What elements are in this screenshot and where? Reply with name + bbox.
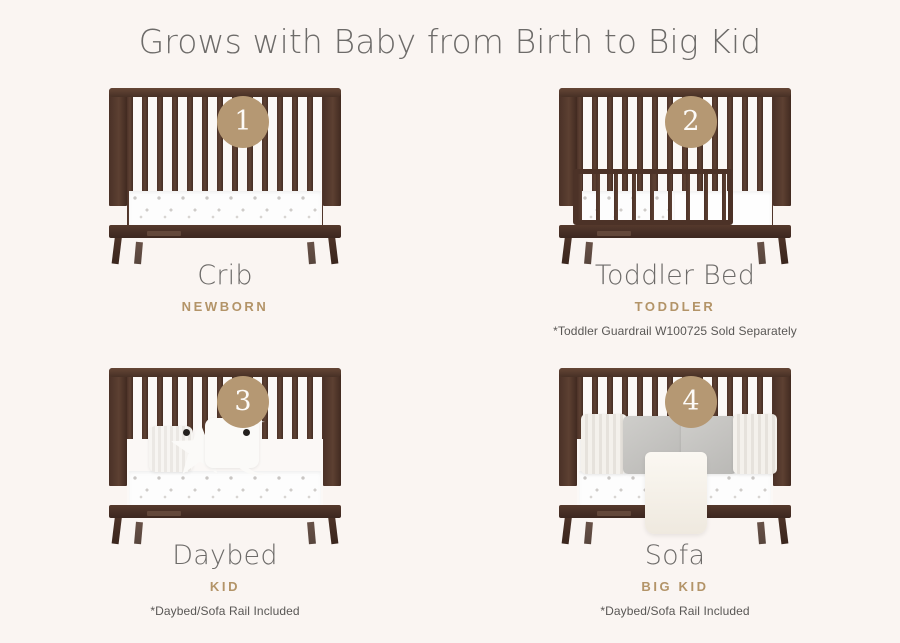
- daybed-mattress: [129, 471, 321, 505]
- daybed-base-rail: [109, 505, 341, 518]
- stage-age-label: KID: [0, 579, 450, 594]
- bed-top-rail: [559, 88, 791, 97]
- stage-number-badge: 1: [217, 96, 269, 148]
- stage-number-badge: 3: [217, 376, 269, 428]
- stage-card-toddler-bed[interactable]: 2: [450, 78, 900, 358]
- sofa-left-panel: [559, 368, 577, 486]
- brand-plaque: [147, 231, 181, 236]
- crib-mattress: [129, 191, 321, 225]
- toddler-bed-caption: Toddler Bed TODDLER *Toddler Guardrail W…: [450, 261, 900, 338]
- stage-grid: 1 Crib NEWBORN: [0, 78, 900, 638]
- stage-number-badge: 2: [665, 96, 717, 148]
- crib-left-panel: [109, 88, 127, 206]
- stage-title: Toddler Bed: [450, 261, 900, 291]
- brand-plaque: [597, 231, 631, 236]
- bed-leg-front-right: [778, 236, 788, 265]
- crib-illustration: 1: [0, 88, 450, 263]
- daybed-illustration: 3: [0, 368, 450, 543]
- throw-pillow-cream-left: [581, 414, 627, 474]
- brand-plaque: [597, 511, 631, 516]
- daybed-caption: Daybed KID *Daybed/Sofa Rail Included: [0, 541, 450, 618]
- throw-pillow-cream-right: [733, 414, 777, 474]
- stage-age-label: TODDLER: [450, 299, 900, 314]
- throw-blanket: [645, 452, 707, 534]
- stage-card-crib[interactable]: 1 Crib NEWBORN: [0, 78, 450, 358]
- crib-top-rail: [109, 88, 341, 97]
- daybed-right-panel: [323, 368, 341, 486]
- daybed-leg-front-left: [112, 516, 122, 545]
- sofa-leg-front-left: [562, 516, 572, 545]
- sofa-leg-front-right: [778, 516, 788, 545]
- sofa-caption: Sofa BIG KID *Daybed/Sofa Rail Included: [450, 541, 900, 618]
- bed-right-panel: [773, 88, 791, 206]
- stage-card-daybed[interactable]: 3: [0, 358, 450, 638]
- crib-leg-front-left: [112, 236, 122, 265]
- page-title: Grows with Baby from Birth to Big Kid: [0, 22, 900, 61]
- sofa-top-rail: [559, 368, 791, 377]
- daybed-left-panel: [109, 368, 127, 486]
- stage-note: *Toddler Guardrail W100725 Sold Separate…: [450, 324, 900, 338]
- stage-title: Sofa: [450, 541, 900, 571]
- stage-age-label: BIG KID: [450, 579, 900, 594]
- stage-title: Crib: [0, 261, 450, 291]
- bed-leg-front-left: [562, 236, 572, 265]
- crib-caption: Crib NEWBORN: [0, 261, 450, 324]
- stage-age-label: NEWBORN: [0, 299, 450, 314]
- stage-note: *Daybed/Sofa Rail Included: [0, 604, 450, 618]
- daybed-leg-front-right: [328, 516, 338, 545]
- brand-plaque: [147, 511, 181, 516]
- stage-title: Daybed: [0, 541, 450, 571]
- guardrail-frame: [573, 169, 733, 225]
- toddler-guardrail: [573, 169, 733, 225]
- stage-number-badge: 4: [665, 376, 717, 428]
- crib-right-panel: [323, 88, 341, 206]
- stage-card-sofa[interactable]: 4: [450, 358, 900, 638]
- stage-note: *Daybed/Sofa Rail Included: [450, 604, 900, 618]
- crib-leg-front-right: [328, 236, 338, 265]
- crib-base-rail: [109, 225, 341, 238]
- sofa-illustration: 4: [450, 368, 900, 543]
- daybed-top-rail: [109, 368, 341, 377]
- toddler-bed-illustration: 2: [450, 88, 900, 263]
- pillow-eye: [243, 429, 250, 436]
- bed-base-rail: [559, 225, 791, 238]
- infographic-page: Grows with Baby from Birth to Big Kid 1: [0, 0, 900, 643]
- pillow-eye: [183, 429, 190, 436]
